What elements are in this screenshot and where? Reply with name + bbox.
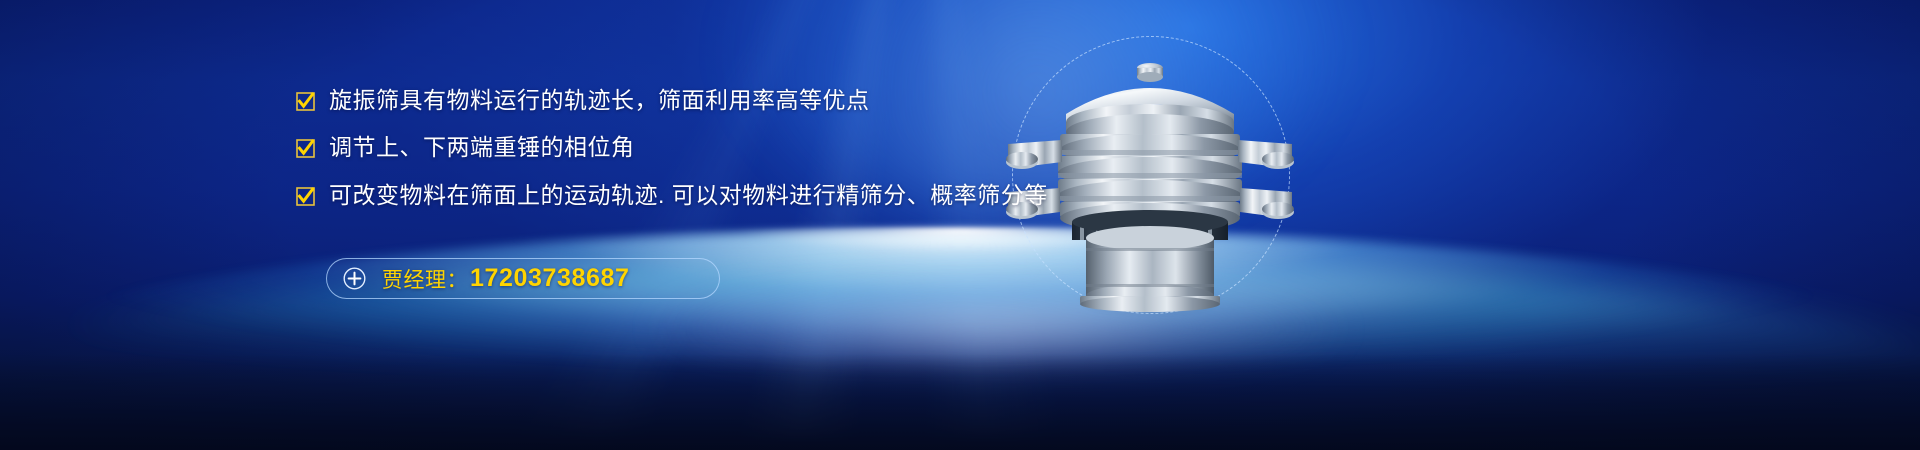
feature-list: 旋振筛具有物料运行的轨迹长，筛面利用率高等优点 调节上、下两端重锤的相位角 可改… <box>296 88 1056 230</box>
plus-circle-icon <box>343 267 366 290</box>
list-item: 可改变物料在筛面上的运动轨迹. 可以对物料进行精筛分、概率筛分等 <box>296 183 1056 208</box>
bottom-shade <box>0 354 1920 450</box>
list-item: 调节上、下两端重锤的相位角 <box>296 135 1056 160</box>
list-item: 旋振筛具有物料运行的轨迹长，筛面利用率高等优点 <box>296 88 1056 113</box>
list-item-label: 调节上、下两端重锤的相位角 <box>329 135 635 160</box>
check-square-icon <box>296 92 315 111</box>
contact-phone-button[interactable]: 贾经理： 17203738687 <box>326 258 720 299</box>
promo-banner: 旋振筛具有物料运行的轨迹长，筛面利用率高等优点 调节上、下两端重锤的相位角 可改… <box>0 0 1920 450</box>
contact-name-label: 贾经理： <box>382 264 468 294</box>
contact-phone-number: 17203738687 <box>470 264 630 293</box>
list-item-label: 可改变物料在筛面上的运动轨迹. 可以对物料进行精筛分、概率筛分等 <box>329 183 1048 208</box>
check-square-icon <box>296 187 315 206</box>
list-item-label: 旋振筛具有物料运行的轨迹长，筛面利用率高等优点 <box>329 88 870 113</box>
check-square-icon <box>296 139 315 158</box>
